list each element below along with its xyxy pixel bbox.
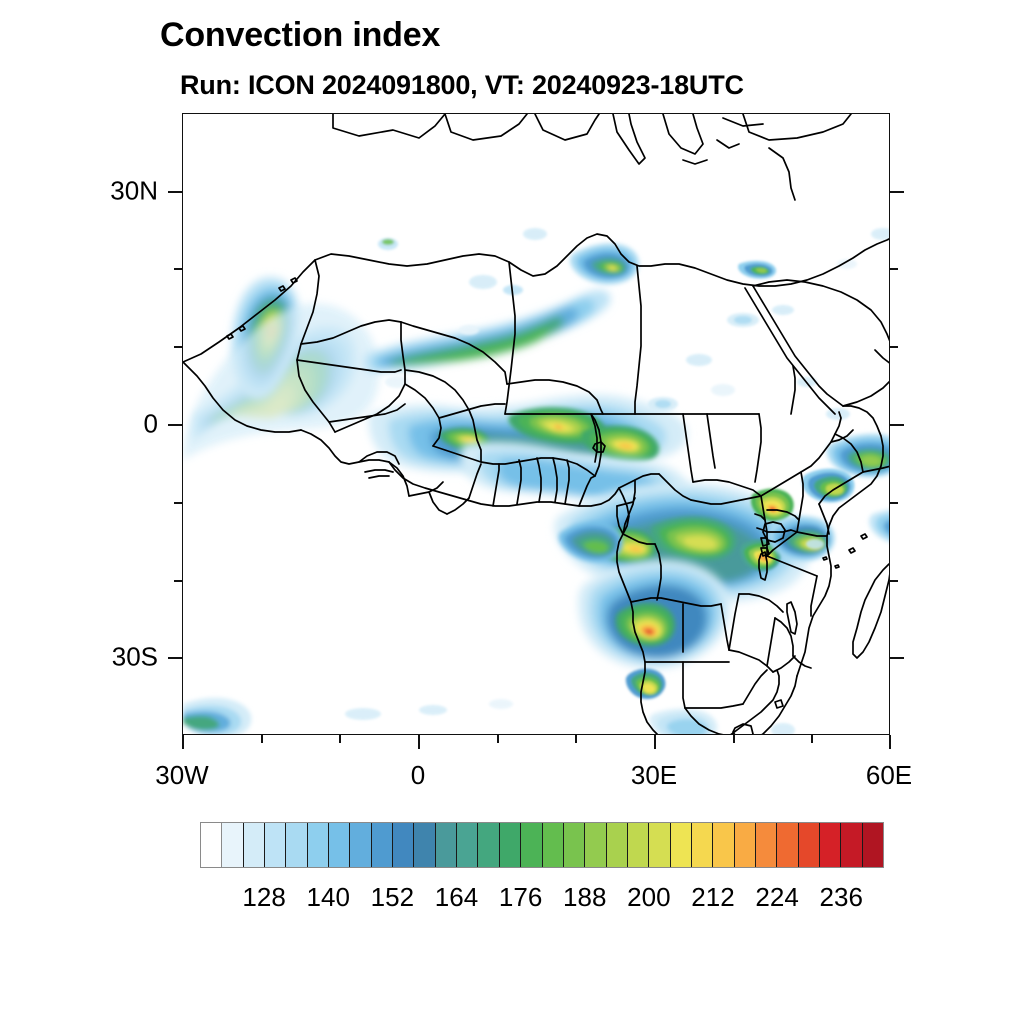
x-tick-minor-20e [575,735,577,743]
x-tick-minor-40e [733,735,735,743]
y-tick-right-10n [890,346,898,348]
x-tick-major-60e [889,735,891,749]
y-tick-right-30n [890,191,904,193]
x-axis-label-60e: 60E [866,760,912,791]
colorbar-cell-11 [436,823,457,867]
colorbar-tick-label-128: 128 [242,882,285,913]
colorbar-cell-16 [543,823,564,867]
colorbar-cell-15 [521,823,542,867]
x-tick-minor-20w [261,735,263,743]
x-tick-minor-10e [497,735,499,743]
colorbar-cell-1 [222,823,243,867]
map-plot-area [182,113,890,735]
colorbar-cell-21 [649,823,670,867]
colorbar-tick-label-200: 200 [627,882,670,913]
run-valid-time-subtitle: Run: ICON 2024091800, VT: 20240923-18UTC [180,70,744,101]
colorbar-cell-0 [201,823,222,867]
colorbar-cell-7 [350,823,371,867]
y-tick-minor-20s [174,580,182,582]
colorbar-cell-2 [244,823,265,867]
y-tick-major-0 [168,424,182,426]
x-tick-minor-10w [339,735,341,743]
colorbar-cell-29 [820,823,841,867]
colorbar-tick-label-188: 188 [563,882,606,913]
y-tick-right-10s [890,502,898,504]
x-tick-major-0 [418,735,420,749]
colorbar-cell-25 [735,823,756,867]
y-tick-minor-20n [174,268,182,270]
colorbar-tick-label-152: 152 [371,882,414,913]
colorbar-cell-27 [777,823,798,867]
x-axis-label-30w: 30W [155,760,208,791]
y-axis-label-30s: 30S [112,642,158,673]
colorbar-cell-13 [478,823,499,867]
figure-root: Convection index Run: ICON 2024091800, V… [0,0,1024,1024]
y-tick-major-30s [168,657,182,659]
colorbar-cell-3 [265,823,286,867]
y-tick-minor-10s [174,502,182,504]
colorbar-tick-label-164: 164 [435,882,478,913]
colorbar-cell-17 [564,823,585,867]
colorbar-cell-28 [799,823,820,867]
x-axis-label-0: 0 [411,760,425,791]
colorbar-cell-10 [414,823,435,867]
x-tick-minor-50e [811,735,813,743]
y-axis-label-0: 0 [144,409,158,440]
colorbar-cell-22 [671,823,692,867]
y-tick-right-0 [890,424,904,426]
colorbar[interactable] [200,822,884,868]
colorbar-cell-8 [372,823,393,867]
colorbar-cell-26 [756,823,777,867]
colorbar-cell-4 [286,823,307,867]
colorbar-cell-19 [607,823,628,867]
colorbar-tick-label-140: 140 [307,882,350,913]
colorbar-cell-9 [393,823,414,867]
x-tick-major-30e [654,735,656,749]
colorbar-cell-12 [457,823,478,867]
y-tick-major-30n [168,191,182,193]
colorbar-tick-label-212: 212 [691,882,734,913]
y-tick-right-30s [890,657,904,659]
map-canvas [183,114,889,734]
page-title: Convection index [160,16,440,55]
colorbar-cell-20 [628,823,649,867]
colorbar-tick-label-176: 176 [499,882,542,913]
colorbar-cell-14 [500,823,521,867]
y-tick-right-20s [890,580,898,582]
colorbar-cell-6 [329,823,350,867]
colorbar-cell-24 [713,823,734,867]
x-tick-major-30w [182,735,184,749]
y-tick-right-20n [890,268,898,270]
colorbar-cell-23 [692,823,713,867]
y-tick-minor-10n [174,346,182,348]
colorbar-cell-31 [863,823,883,867]
map-graphic [183,114,889,734]
colorbar-cell-18 [585,823,606,867]
colorbar-tick-label-224: 224 [755,882,798,913]
colorbar-tick-label-236: 236 [820,882,863,913]
x-axis-label-30e: 30E [631,760,677,791]
y-axis-label-30n: 30N [110,176,158,207]
colorbar-cell-5 [308,823,329,867]
colorbar-cell-30 [841,823,862,867]
